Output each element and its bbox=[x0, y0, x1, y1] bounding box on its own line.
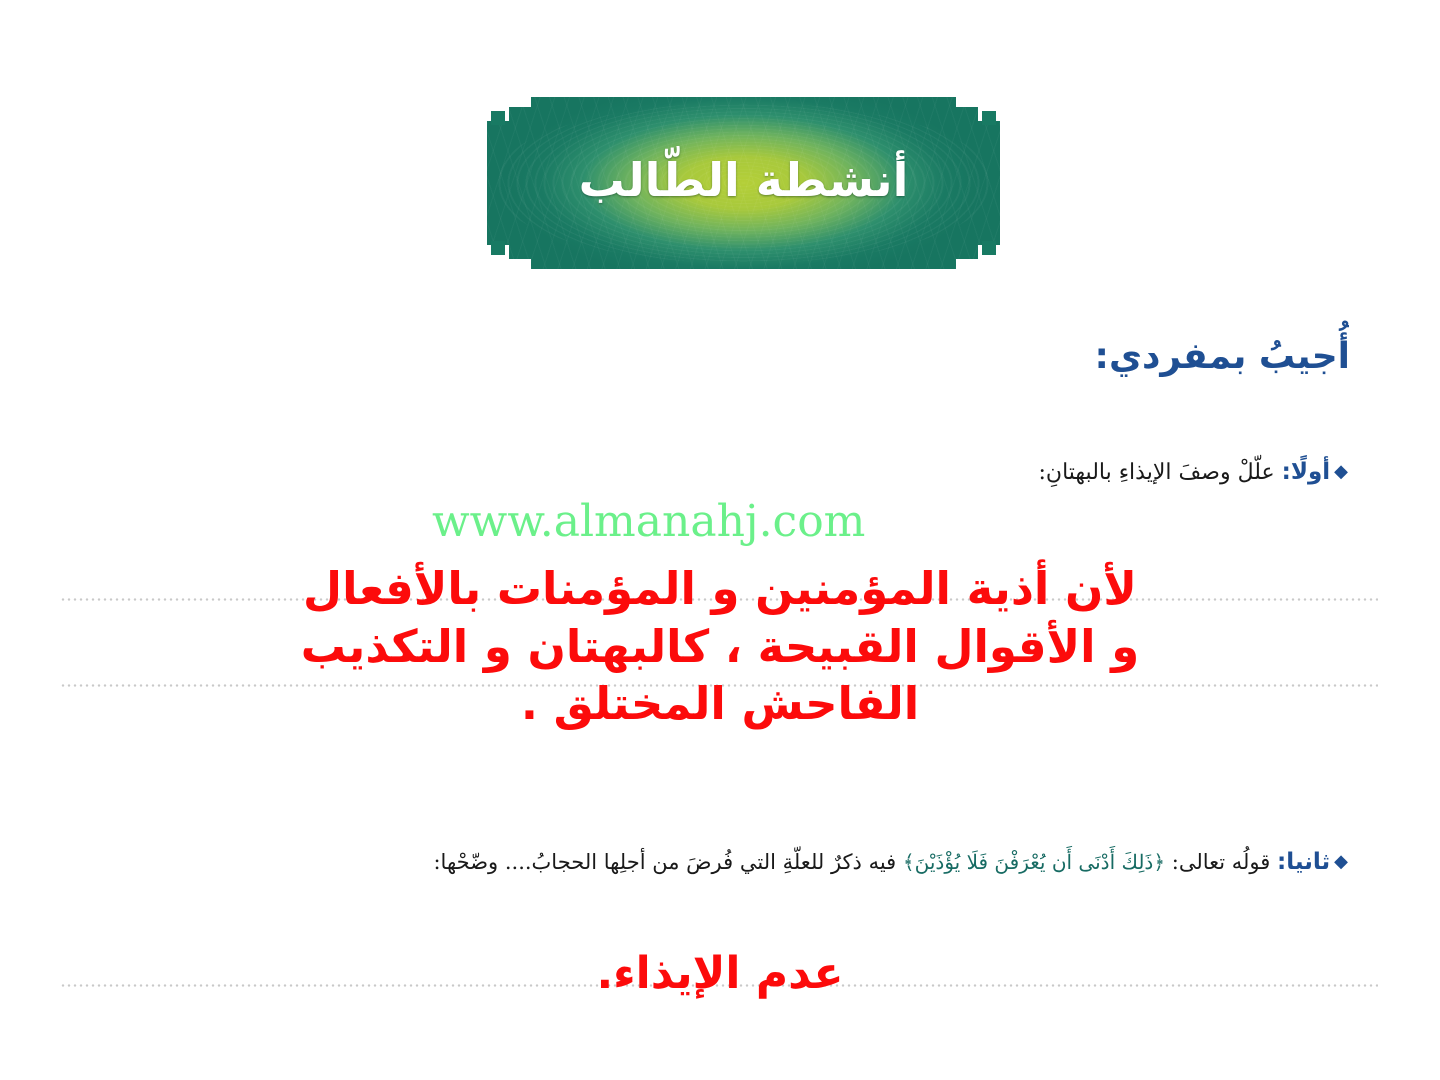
banner-corner-square-bottom-right bbox=[491, 241, 505, 255]
question-one-label: أولًا: bbox=[1282, 459, 1331, 485]
section-heading: أُجيبُ بمفردي: bbox=[1095, 336, 1350, 377]
banner-corner-square-bottom-left bbox=[982, 241, 996, 255]
question-two-bullet-icon: ◆ bbox=[1334, 851, 1348, 872]
question-two-answer: عدم الإيذاء. bbox=[52, 946, 1388, 1002]
banner-corner-notch-top-left-bar bbox=[956, 97, 978, 107]
question-one-prompt: علّلْ وصفَ الإيذاءِ بالبهتانِ: bbox=[1039, 460, 1275, 485]
banner-title: أنشطة الطّالب bbox=[487, 97, 1000, 269]
question-one-answer: لأن أذية المؤمنين و المؤمنات بالأفعال و … bbox=[52, 560, 1388, 733]
site-watermark: www.almanahj.com bbox=[432, 496, 865, 547]
question-two-line: ◆ثانيا: قولُه تعالى: ﴿ذَلِكَ أَدْنَى أَن… bbox=[433, 849, 1348, 875]
question-two-prompt-before: قولُه تعالى: bbox=[1172, 850, 1271, 874]
question-one-answer-line-3: الفاحش المختلق . bbox=[52, 675, 1388, 733]
banner-corner-notch-bottom-left-bar bbox=[956, 259, 978, 269]
question-two-prompt-after: فيه ذكرٌ للعلّةِ التي فُرضَ من أجلِها ال… bbox=[433, 850, 896, 874]
activities-banner: أنشطة الطّالب bbox=[487, 97, 1000, 269]
question-one-line: ◆أولًا: علّلْ وصفَ الإيذاءِ بالبهتانِ: bbox=[1039, 459, 1349, 485]
question-one-answer-line-2: و الأقوال القبيحة ، كالبهتان و التكذيب bbox=[52, 618, 1388, 676]
question-two-label: ثانيا: bbox=[1277, 849, 1330, 875]
question-one-bullet-icon: ◆ bbox=[1334, 461, 1348, 482]
worksheet-page: أنشطة الطّالب أُجيبُ بمفردي: ◆أولًا: علّ… bbox=[0, 0, 1440, 1080]
question-two-ayah: ﴿ذَلِكَ أَدْنَى أَن يُعْرَفْنَ فَلَا يُؤ… bbox=[903, 850, 1165, 874]
banner-corner-notch-bottom-right-bar bbox=[509, 259, 531, 269]
question-two-answer-line-1: عدم الإيذاء. bbox=[596, 948, 843, 999]
question-one-answer-line-1: لأن أذية المؤمنين و المؤمنات بالأفعال bbox=[52, 560, 1388, 618]
banner-corner-square-top-right bbox=[491, 111, 505, 125]
banner-background: أنشطة الطّالب bbox=[487, 97, 1000, 269]
banner-corner-notch-top-right-bar bbox=[509, 97, 531, 107]
banner-corner-square-top-left bbox=[982, 111, 996, 125]
